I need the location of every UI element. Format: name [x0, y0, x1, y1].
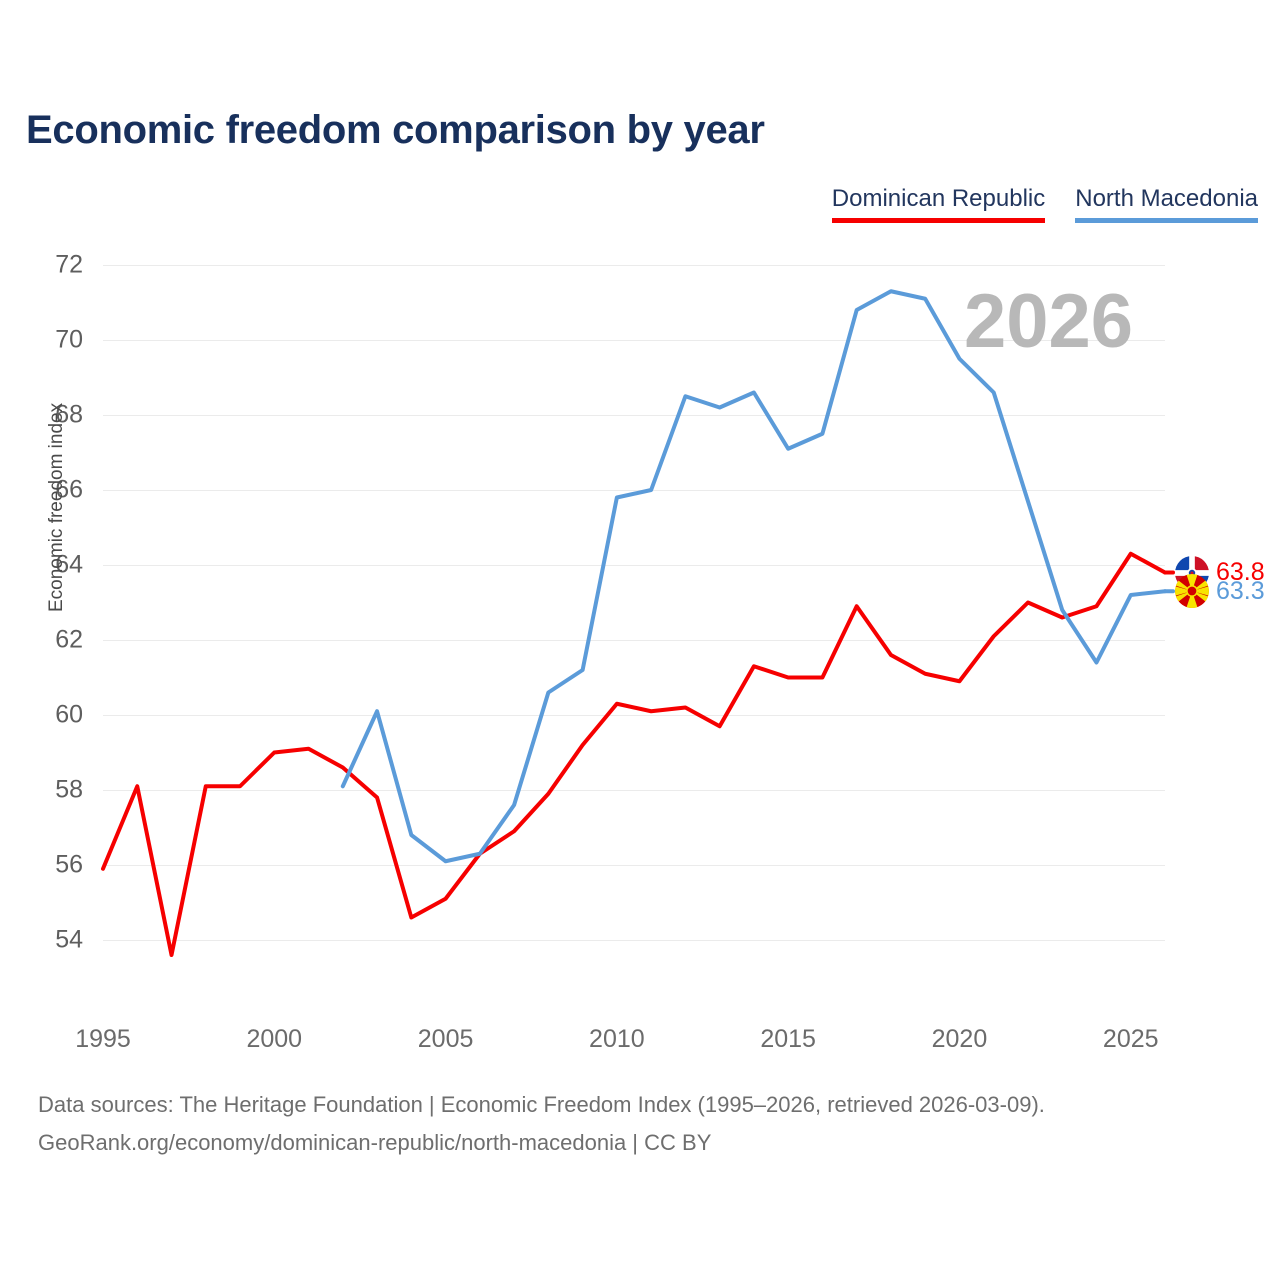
series-line — [103, 554, 1165, 955]
footer-line-2: GeoRank.org/economy/dominican-republic/n… — [38, 1124, 1045, 1162]
north-macedonia-flag-icon — [1175, 574, 1209, 608]
legend-item-north-macedonia[interactable]: North Macedonia — [1075, 186, 1258, 223]
y-axis-tick-label: 72 — [0, 251, 83, 280]
y-axis-tick-label: 58 — [0, 776, 83, 805]
x-axis-tick-label: 2015 — [760, 1025, 816, 1054]
chart-legend: Dominican Republic North Macedonia — [832, 186, 1258, 223]
x-axis-tick-label: 2005 — [418, 1025, 474, 1054]
y-axis-tick-label: 64 — [0, 551, 83, 580]
y-axis-tick-label: 70 — [0, 326, 83, 355]
y-axis-tick-label: 68 — [0, 401, 83, 430]
y-axis-tick-label: 56 — [0, 851, 83, 880]
y-axis-tick-label: 62 — [0, 626, 83, 655]
y-axis-tick-label: 66 — [0, 476, 83, 505]
series-lines — [103, 265, 1165, 940]
plot-area: 54565860626466687072 1995200020052010201… — [103, 265, 1165, 940]
y-axis-tick-label: 54 — [0, 926, 83, 955]
end-label-north-macedonia: 63.3 — [1175, 574, 1265, 608]
x-axis-tick-label: 2000 — [246, 1025, 302, 1054]
year-watermark: 2026 — [964, 278, 1133, 365]
x-axis-tick-label: 2020 — [932, 1025, 988, 1054]
chart-container: Economic freedom comparison by year Domi… — [0, 0, 1280, 1280]
end-value-north-macedonia: 63.3 — [1216, 577, 1265, 606]
x-axis-tick-label: 2025 — [1103, 1025, 1159, 1054]
gridline — [103, 940, 1165, 941]
y-axis-title: Economic freedom index — [46, 403, 68, 612]
x-axis-tick-label: 1995 — [75, 1025, 131, 1054]
series-line — [343, 291, 1165, 861]
x-axis-tick-label: 2010 — [589, 1025, 645, 1054]
legend-item-dominican-republic[interactable]: Dominican Republic — [832, 186, 1045, 223]
page-title: Economic freedom comparison by year — [26, 108, 765, 153]
footer-credits: Data sources: The Heritage Foundation | … — [38, 1086, 1045, 1162]
y-axis-tick-label: 60 — [0, 701, 83, 730]
footer-line-1: Data sources: The Heritage Foundation | … — [38, 1086, 1045, 1124]
